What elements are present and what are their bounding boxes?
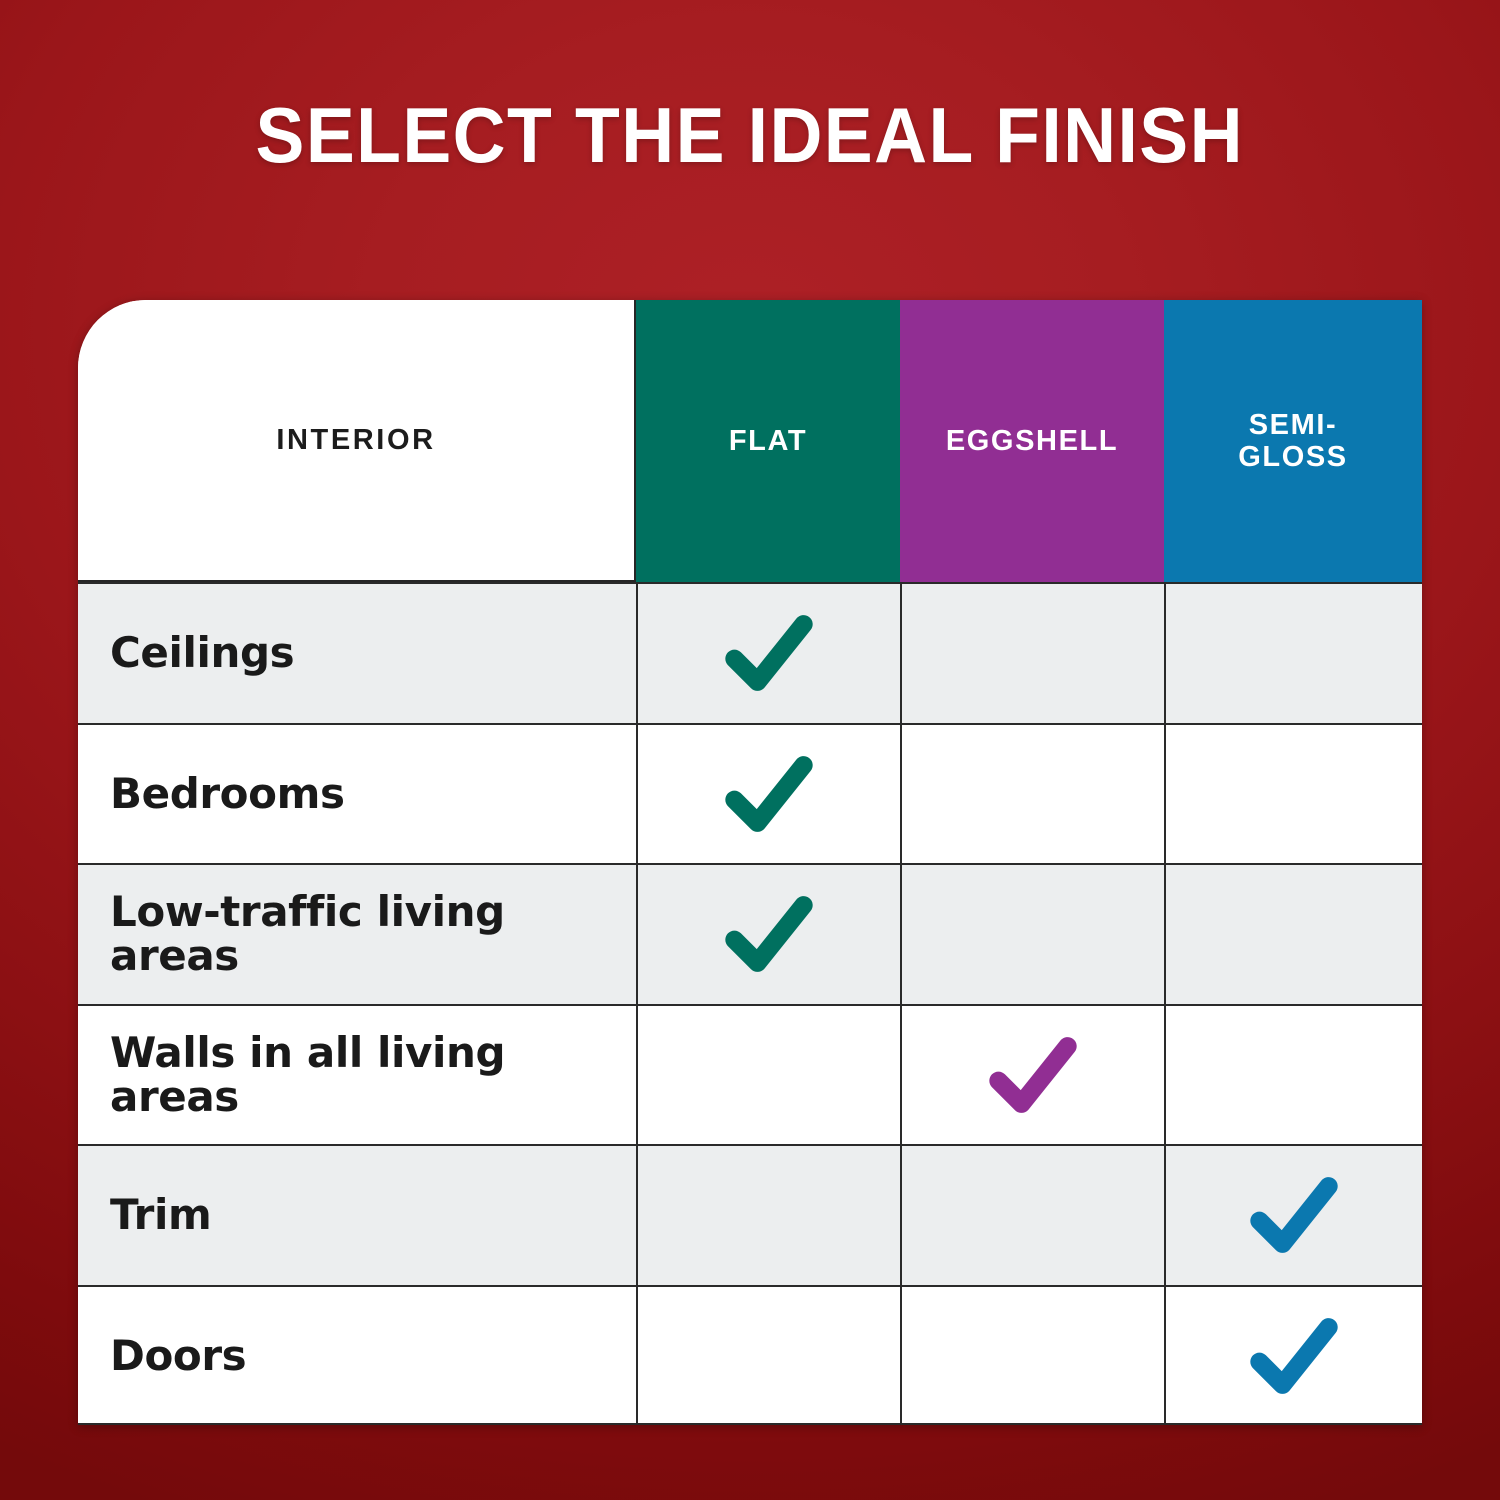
cell-semigloss (1164, 582, 1422, 723)
cell-flat (636, 582, 900, 723)
row-label: Ceilings (110, 631, 294, 675)
column-header-flat: FLAT (636, 300, 900, 582)
poster-canvas: SELECT THE IDEAL FINISH INTERIOR FLAT EG… (0, 0, 1500, 1500)
cell-eggshell (900, 863, 1164, 1004)
cell-semigloss (1164, 1004, 1422, 1145)
table-row: Bedrooms (78, 723, 636, 864)
cell-flat (636, 723, 900, 864)
table-row: Doors (78, 1285, 636, 1426)
cell-flat (636, 1144, 900, 1285)
column-header-semigloss-line2: GLOSS (1238, 441, 1348, 473)
column-header-interior-label: INTERIOR (276, 424, 435, 457)
page-title-container: SELECT THE IDEAL FINISH (0, 96, 1500, 174)
checkmark-icon (1246, 1167, 1342, 1263)
cell-flat (636, 1004, 900, 1145)
cell-flat (636, 863, 900, 1004)
finish-selection-table: INTERIOR FLAT EGGSHELL SEMI- GLOSS Ceili… (78, 300, 1422, 1425)
cell-eggshell (900, 723, 1164, 864)
checkmark-icon (721, 605, 817, 701)
cell-flat (636, 1285, 900, 1426)
column-header-interior: INTERIOR (78, 300, 636, 582)
row-label: Low-traffic living areas (110, 890, 636, 978)
checkmark-icon (721, 746, 817, 842)
checkmark-icon (1246, 1308, 1342, 1404)
cell-eggshell (900, 1004, 1164, 1145)
table-bottom-border (78, 1423, 1422, 1425)
cell-semigloss (1164, 863, 1422, 1004)
row-label: Bedrooms (110, 772, 345, 816)
cell-eggshell (900, 1285, 1164, 1426)
checkmark-icon (721, 886, 817, 982)
cell-semigloss (1164, 1144, 1422, 1285)
row-label: Walls in all living areas (110, 1031, 636, 1119)
row-label: Trim (110, 1193, 211, 1237)
table-row: Low-traffic living areas (78, 863, 636, 1004)
table-row: Trim (78, 1144, 636, 1285)
cell-eggshell (900, 582, 1164, 723)
cell-semigloss (1164, 723, 1422, 864)
table-grid: INTERIOR FLAT EGGSHELL SEMI- GLOSS Ceili… (78, 300, 1422, 1425)
column-header-semigloss-line1: SEMI- (1249, 409, 1338, 441)
table-row: Ceilings (78, 582, 636, 723)
column-header-eggshell-label: EGGSHELL (946, 425, 1118, 457)
column-header-semigloss: SEMI- GLOSS (1164, 300, 1422, 582)
column-header-semigloss-label: SEMI- GLOSS (1238, 409, 1348, 474)
column-header-flat-label: FLAT (729, 425, 807, 457)
row-label: Doors (110, 1334, 246, 1378)
page-title: SELECT THE IDEAL FINISH (256, 96, 1244, 174)
cell-eggshell (900, 1144, 1164, 1285)
checkmark-icon (985, 1027, 1081, 1123)
cell-semigloss (1164, 1285, 1422, 1426)
column-header-eggshell: EGGSHELL (900, 300, 1164, 582)
table-row: Walls in all living areas (78, 1004, 636, 1145)
